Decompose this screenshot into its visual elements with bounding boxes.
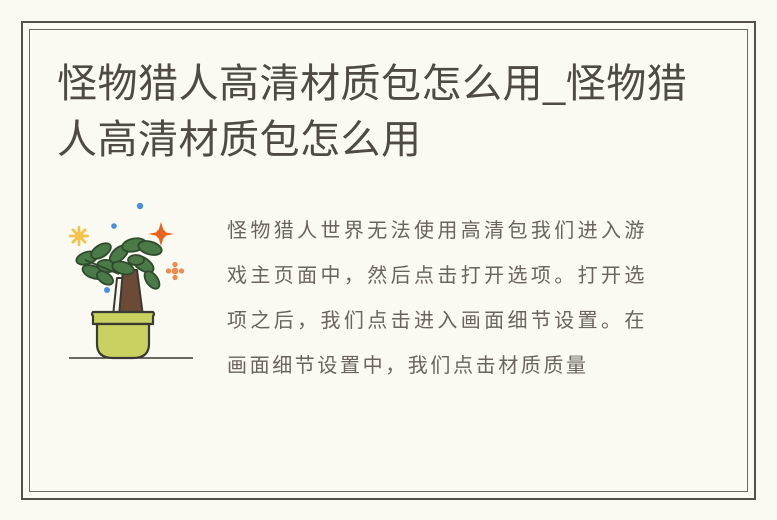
pot-body [97, 324, 149, 358]
blue-dot-mid-icon [111, 223, 117, 229]
orange-flower-icon [166, 262, 184, 280]
pot-rim [92, 312, 154, 324]
gold-starburst-icon [69, 226, 89, 246]
article-content: 怪物猎人世界无法使用高清包我们进入游戏主页面中，然后点击打开选项。打开选项之后，… [57, 198, 717, 448]
page-title: 怪物猎人高清材质包怎么用_怪物猎人高清材质包怎么用 [57, 56, 717, 168]
article-body-text: 怪物猎人世界无法使用高清包我们进入游戏主页面中，然后点击打开选项。打开选项之后，… [227, 208, 647, 388]
blue-dot-top-icon [137, 203, 143, 209]
blue-dot-low-icon [104, 287, 110, 293]
plant-stem [113, 270, 143, 316]
article-page: 怪物猎人高清材质包怎么用_怪物猎人高清材质包怎么用 [0, 0, 777, 520]
potted-plant-illustration [57, 198, 207, 368]
